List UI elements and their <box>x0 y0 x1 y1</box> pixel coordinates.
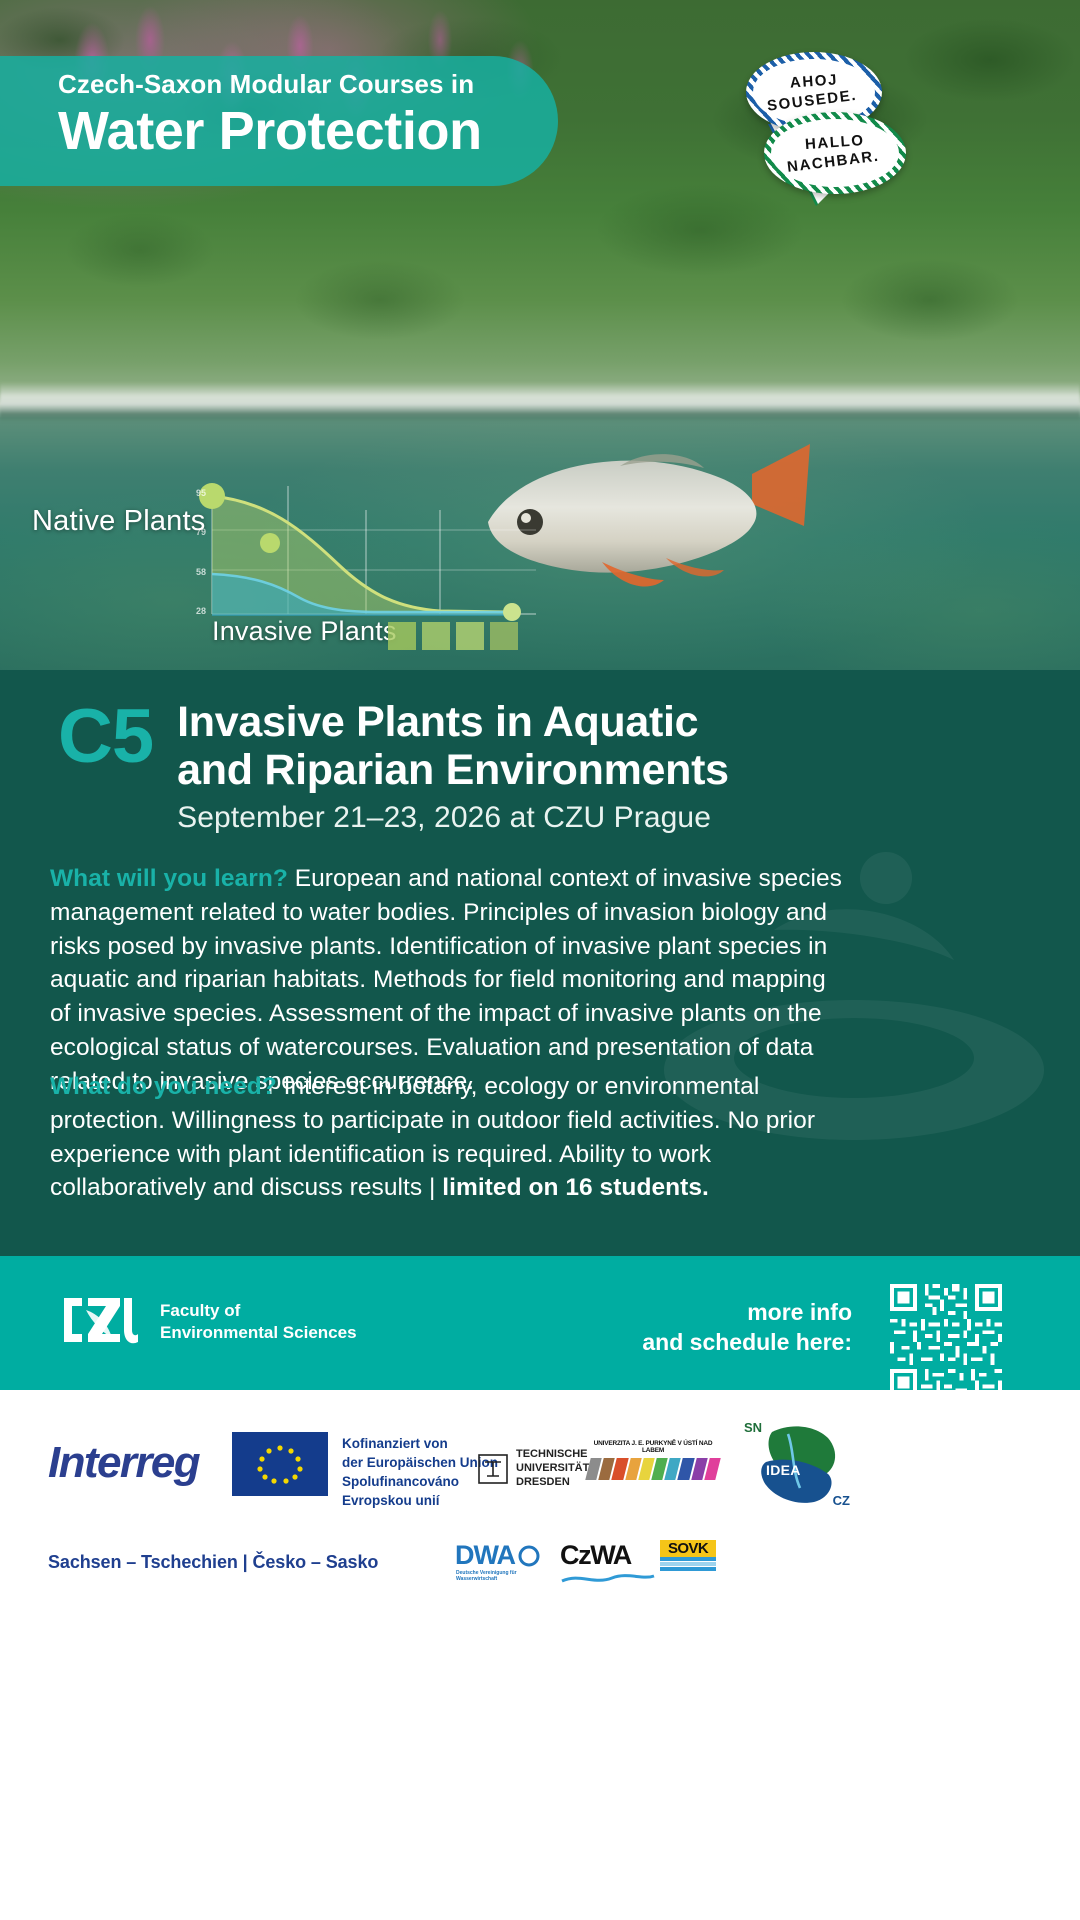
course-title-line1: Invasive Plants in Aquatic <box>177 698 729 746</box>
czu-faculty-line2: Environmental Sciences <box>160 1322 357 1344</box>
dwa-subtitle: Deutsche Vereinigung für Wasserwirtschaf… <box>456 1570 540 1582</box>
poster-root: 95 79 58 28 Native Plants Invasive Plant… <box>0 0 1080 1920</box>
chart-ytick-2: 58 <box>196 567 206 577</box>
eu-funding-line4: Evropskou unií <box>342 1491 498 1510</box>
czu-faculty-name: Faculty of Environmental Sciences <box>160 1300 357 1344</box>
hero-photo: 95 79 58 28 Native Plants Invasive Plant… <box>0 0 1080 672</box>
poster-kicker: Czech-Saxon Modular Courses in <box>58 70 518 100</box>
chart-overlay: 95 79 58 28 Native Plants Invasive Plant… <box>0 470 640 670</box>
course-header: C5 Invasive Plants in Aquatic and Ripari… <box>58 698 1018 836</box>
more-info-line1: more info <box>642 1298 852 1328</box>
tud-line2: UNIVERSITÄT <box>516 1462 589 1476</box>
idea-label: IDEA <box>766 1462 801 1478</box>
ujep-logo: UNIVERZITA J. E. PURKYNĚ V ÚSTÍ NAD LABE… <box>588 1440 718 1480</box>
eu-funding-line3: Spolufinancováno <box>342 1472 498 1491</box>
water-surface-line <box>0 382 1080 422</box>
what-do-you-need-paragraph: What do you need? Interest in botany, ec… <box>50 1070 850 1205</box>
chart-legend-swatches <box>388 622 518 650</box>
czwa-logo: CzWA <box>560 1540 656 1590</box>
dwa-logo: DWA Deutsche Vereinigung für Wasserwirts… <box>455 1540 540 1571</box>
chart-label-invasive: Invasive Plants <box>212 616 397 647</box>
eu-funding-line1: Kofinanziert von <box>342 1434 498 1453</box>
chart-ytick-0: 95 <box>196 488 206 498</box>
ujep-name: UNIVERZITA J. E. PURKYNĚ V ÚSTÍ NAD LABE… <box>588 1440 718 1454</box>
chart-label-native: Native Plants <box>32 505 205 538</box>
course-title-line2: and Riparian Environments <box>177 746 729 794</box>
tu-dresden-logo: TECHNISCHE UNIVERSITÄT DRESDEN <box>478 1448 589 1489</box>
sn-idea-cz-labels: SN IDEA CZ <box>742 1418 852 1508</box>
bubble-german-line2: NACHBAR. <box>786 148 880 178</box>
what-do-you-need-label: What do you need? <box>50 1073 277 1100</box>
course-date: September 21–23, 2026 at CZU Prague <box>177 800 729 836</box>
sovk-logo: SOVK <box>660 1540 716 1578</box>
eu-flag-icon <box>232 1432 328 1496</box>
tud-mark-icon <box>478 1454 508 1484</box>
tud-line1: TECHNISCHE <box>516 1448 589 1462</box>
chart-ytick-3: 28 <box>196 606 206 616</box>
qr-code[interactable] <box>890 1284 1002 1396</box>
more-info-line2: and schedule here: <box>642 1328 852 1358</box>
cz-label: CZ <box>833 1493 850 1508</box>
institution-band: Faculty of Environmental Sciences more i… <box>0 1256 1080 1390</box>
interreg-logo: Interreg <box>48 1438 199 1488</box>
dwa-name: DWA <box>455 1540 515 1571</box>
ujep-color-bars <box>585 1458 720 1480</box>
czu-logo <box>58 1288 144 1352</box>
czwa-wave-icon <box>560 1571 656 1585</box>
czwa-name: CzWA <box>560 1540 656 1571</box>
tud-name: TECHNISCHE UNIVERSITÄT DRESDEN <box>516 1448 589 1489</box>
sovk-stripes-icon <box>660 1557 716 1573</box>
tud-line3: DRESDEN <box>516 1476 589 1490</box>
poster-title: Water Protection <box>58 102 518 160</box>
partner-logos-footer: Interreg Kofinanziert von der Europäisch… <box>0 1390 1080 1920</box>
sovk-name: SOVK <box>660 1540 716 1557</box>
what-will-you-learn-label: What will you learn? <box>50 865 288 892</box>
what-will-you-learn-paragraph: What will you learn? European and nation… <box>50 862 850 1099</box>
what-will-you-learn-body: European and national context of invasiv… <box>50 865 842 1095</box>
programme-region: Sachsen – Tschechien | Česko – Sasko <box>48 1552 378 1573</box>
title-pill: Czech-Saxon Modular Courses in Water Pro… <box>0 56 558 186</box>
czu-faculty-line1: Faculty of <box>160 1300 357 1322</box>
dwa-circle-icon <box>518 1545 540 1567</box>
sn-label: SN <box>744 1420 762 1435</box>
eu-funding-line2: der Europäischen Union <box>342 1453 498 1472</box>
student-limit-emphasis: limited on 16 students. <box>442 1174 709 1201</box>
more-info-text: more info and schedule here: <box>642 1298 852 1358</box>
course-code: C5 <box>58 698 153 772</box>
bubble-german: HALLO NACHBAR. <box>764 112 906 194</box>
course-description-section: C5 Invasive Plants in Aquatic and Ripari… <box>0 670 1080 1256</box>
eu-funding-text: Kofinanziert von der Europäischen Union … <box>342 1434 498 1511</box>
greeting-bubbles: AHOJ SOUSEDE. HALLO NACHBAR. <box>742 52 1072 202</box>
